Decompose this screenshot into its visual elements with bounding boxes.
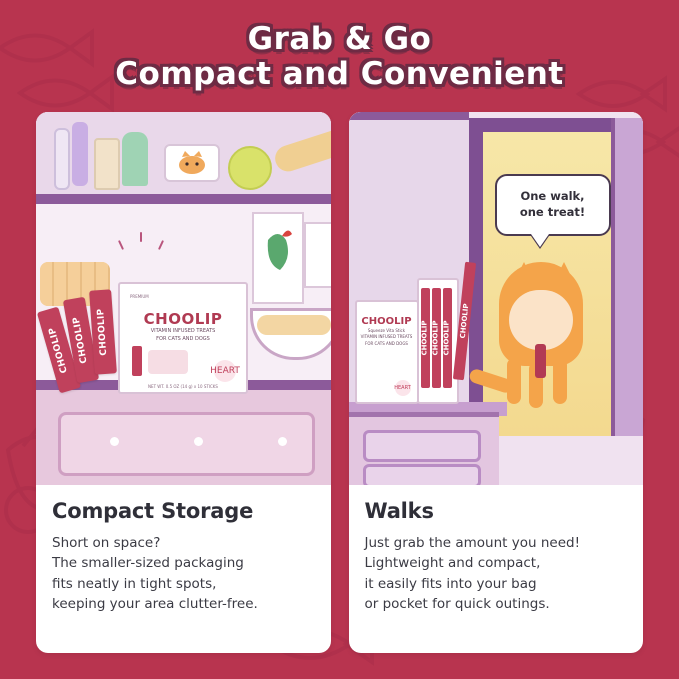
cat-face-icon xyxy=(174,151,210,175)
cat-photo-badge xyxy=(164,144,220,182)
title-line-1: Grab & Go xyxy=(0,22,679,57)
body-line: Lightweight and compact, xyxy=(365,553,628,573)
product-subtitle: Squeeze Vita Stick VITAMIN INFUSED TREAT… xyxy=(357,328,417,347)
card-title: Walks xyxy=(365,499,628,523)
cat-leg xyxy=(507,358,521,404)
cat-held-treat-stick xyxy=(535,344,546,378)
toothbrush-icon xyxy=(54,128,70,190)
body-line: Short on space? xyxy=(52,533,315,553)
bubble-line: One walk, xyxy=(520,189,584,205)
card-caption: Walks Just grab the amount you need! Lig… xyxy=(349,485,644,624)
card-caption: Compact Storage Short on space? The smal… xyxy=(36,485,331,624)
heart-badge: HEART xyxy=(214,360,236,382)
carton-icon xyxy=(252,212,304,304)
card-body: Just grab the amount you need! Lightweig… xyxy=(365,533,628,614)
treat-stick: CHOOLIP xyxy=(421,288,430,388)
product-illustration xyxy=(148,350,188,374)
body-line: it easily fits into your bag xyxy=(365,574,628,594)
jar-icon xyxy=(94,138,120,190)
box-icon xyxy=(304,222,331,288)
rooster-icon xyxy=(254,214,298,298)
stick-label: CHOOLIP xyxy=(96,308,109,356)
body-line: keeping your area clutter-free. xyxy=(52,594,315,614)
product-brand: CHOOLIP xyxy=(120,310,246,328)
treat-stick: CHOOLIP xyxy=(432,288,441,388)
body-line: fits neatly in tight spots, xyxy=(52,574,315,594)
hallway-illustration: CHOOLIP Squeeze Vita Stick VITAMIN INFUS… xyxy=(349,112,644,485)
card-title: Compact Storage xyxy=(52,499,315,523)
card-compact-storage: PREMIUM CHOOLIP VITAMIN INFUSED TREATS F… xyxy=(36,112,331,653)
body-line: Just grab the amount you need! xyxy=(365,533,628,553)
stick-label: CHOOLIP xyxy=(458,303,470,339)
drawer-panel xyxy=(58,412,315,476)
feature-cards: PREMIUM CHOOLIP VITAMIN INFUSED TREATS F… xyxy=(36,112,643,653)
product-box-small: CHOOLIP Squeeze Vita Stick VITAMIN INFUS… xyxy=(355,300,419,404)
stick-label: CHOOLIP xyxy=(443,320,451,355)
bubble-line: one treat! xyxy=(520,205,585,221)
product-subtitle: VITAMIN INFUSED TREATS FOR CATS AND DOGS xyxy=(120,328,246,343)
cabinet-illustration: PREMIUM CHOOLIP VITAMIN INFUSED TREATS F… xyxy=(36,112,331,485)
stick-label: CHOOLIP xyxy=(421,320,429,355)
tennis-ball-icon xyxy=(228,146,272,190)
card-body: Short on space? The smaller-sized packag… xyxy=(52,533,315,614)
heart-badge: HEART xyxy=(395,380,411,396)
title-line-2: Compact and Convenient xyxy=(0,57,679,92)
product-footer: NET WT. 0.5 OZ (14 g) x 10 STICKS xyxy=(120,384,246,389)
cat-leg xyxy=(553,358,567,404)
stick-label: CHOOLIP xyxy=(72,316,90,364)
speech-bubble: One walk, one treat! xyxy=(495,174,611,236)
page-title: Grab & Go Compact and Convenient xyxy=(0,22,679,91)
body-line: The smaller-sized packaging xyxy=(52,553,315,573)
card-walks: CHOOLIP Squeeze Vita Stick VITAMIN INFUS… xyxy=(349,112,644,653)
stick-label: CHOOLIP xyxy=(432,320,440,355)
product-brand: CHOOLIP xyxy=(357,316,417,327)
bottle-icon xyxy=(72,122,88,186)
product-top-label: PREMIUM xyxy=(130,294,149,299)
body-line: or pocket for quick outings. xyxy=(365,594,628,614)
cat-face xyxy=(509,290,573,350)
treat-stick: CHOOLIP xyxy=(443,288,452,388)
product-box: PREMIUM CHOOLIP VITAMIN INFUSED TREATS F… xyxy=(118,282,248,394)
tube-icon xyxy=(122,132,148,186)
